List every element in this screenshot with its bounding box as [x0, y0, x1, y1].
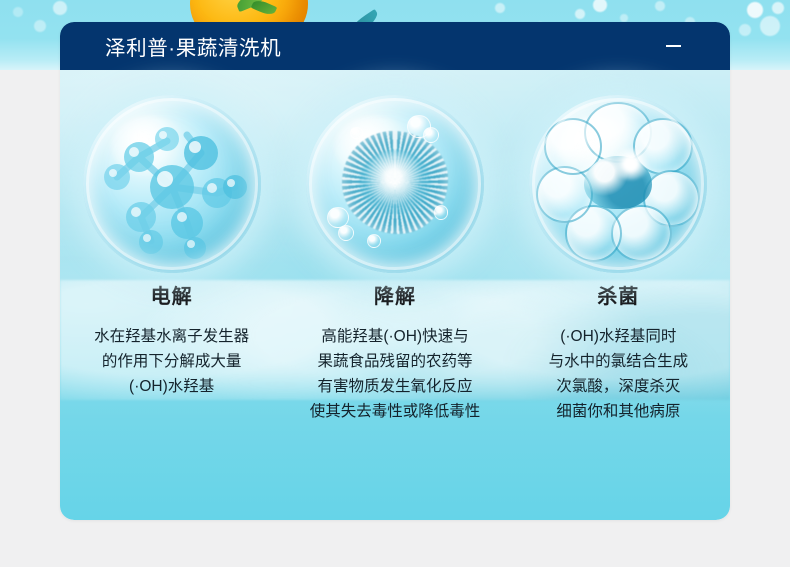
- card-title: 泽利普·果蔬清洗机: [105, 31, 281, 61]
- bubble-petal-icon: [633, 118, 694, 175]
- panel-description-line: 次氯酸，深度杀灭: [549, 374, 689, 399]
- radial-burst-icon: [342, 131, 449, 234]
- feature-panel-electrolysis: 电解 水在羟基水离子发生器 的作用下分解成大量 (·OH)水羟基: [60, 70, 283, 520]
- bubble-petal-icon: [611, 205, 672, 262]
- panel-description: 高能羟基(·OH)快速与 果蔬食品残留的农药等 有害物质发生氧化反应 使其失去毒…: [310, 324, 481, 424]
- feature-panels: 电解 水在羟基水离子发生器 的作用下分解成大量 (·OH)水羟基: [60, 70, 730, 520]
- bubble-petal-icon: [584, 102, 652, 163]
- panel-description-line: 与水中的氯结合生成: [549, 349, 689, 374]
- water-bubble-molecule-image: [83, 95, 261, 273]
- panel-heading: 降解: [374, 287, 416, 307]
- panel-description-line: 高能羟基(·OH)快速与: [310, 324, 481, 349]
- panel-heading: 电解: [151, 287, 193, 307]
- bubble-petal-icon: [643, 170, 700, 227]
- card-body: 电解 水在羟基水离子发生器 的作用下分解成大量 (·OH)水羟基: [60, 70, 730, 520]
- card-header: 泽利普·果蔬清洗机: [60, 22, 730, 70]
- panel-description-line: 有害物质发生氧化反应: [310, 374, 481, 399]
- product-feature-card: 泽利普·果蔬清洗机: [60, 22, 730, 520]
- molecule-illustration-icon: [83, 95, 261, 273]
- panel-description: (·OH)水羟基同时 与水中的氯结合生成 次氯酸，深度杀灭 细菌你和其他病原: [549, 324, 689, 424]
- bubble-highlight: [334, 116, 412, 177]
- collapse-button[interactable]: [662, 22, 684, 70]
- panel-description-line: 的作用下分解成大量: [94, 349, 249, 374]
- panel-description: 水在羟基水离子发生器 的作用下分解成大量 (·OH)水羟基: [94, 324, 249, 399]
- small-bubble-icon: [338, 225, 354, 241]
- small-bubble-icon: [367, 234, 381, 248]
- bubble-highlight: [111, 116, 189, 177]
- panel-description-line: (·OH)水羟基同时: [549, 324, 689, 349]
- feature-panel-sterilization: 杀菌 (·OH)水羟基同时 与水中的氯结合生成 次氯酸，深度杀灭 细菌你和其他病…: [507, 70, 730, 520]
- bubble-core-highlight: [611, 148, 650, 180]
- bubble-cluster-core-icon: [584, 156, 652, 209]
- water-bubble-radial-burst-image: [306, 95, 484, 273]
- panel-description-line: 果蔬食品残留的农药等: [310, 349, 481, 374]
- bubble-petal-icon: [565, 205, 622, 262]
- small-bubble-icon: [434, 205, 448, 219]
- burst-inner-glow: [359, 150, 430, 214]
- small-bubble-icon: [407, 115, 430, 138]
- panel-description-line: 水在羟基水离子发生器: [94, 324, 249, 349]
- panel-description-line: 使其失去毒性或降低毒性: [310, 399, 481, 424]
- water-bubble-cluster-image: [529, 95, 707, 273]
- small-bubble-icon: [327, 207, 348, 228]
- panel-heading: 杀菌: [597, 287, 639, 307]
- small-bubble-icon: [350, 127, 362, 139]
- panel-description-line: (·OH)水羟基: [94, 374, 249, 399]
- bubble-highlight: [558, 116, 636, 177]
- feature-panel-degradation: 降解 高能羟基(·OH)快速与 果蔬食品残留的农药等 有害物质发生氧化反应 使其…: [283, 70, 506, 520]
- panel-description-line: 细菌你和其他病原: [549, 399, 689, 424]
- small-bubble-icon: [423, 127, 439, 143]
- bubble-petal-icon: [544, 118, 603, 175]
- bubble-petal-icon: [536, 166, 593, 223]
- minus-icon: [666, 45, 681, 48]
